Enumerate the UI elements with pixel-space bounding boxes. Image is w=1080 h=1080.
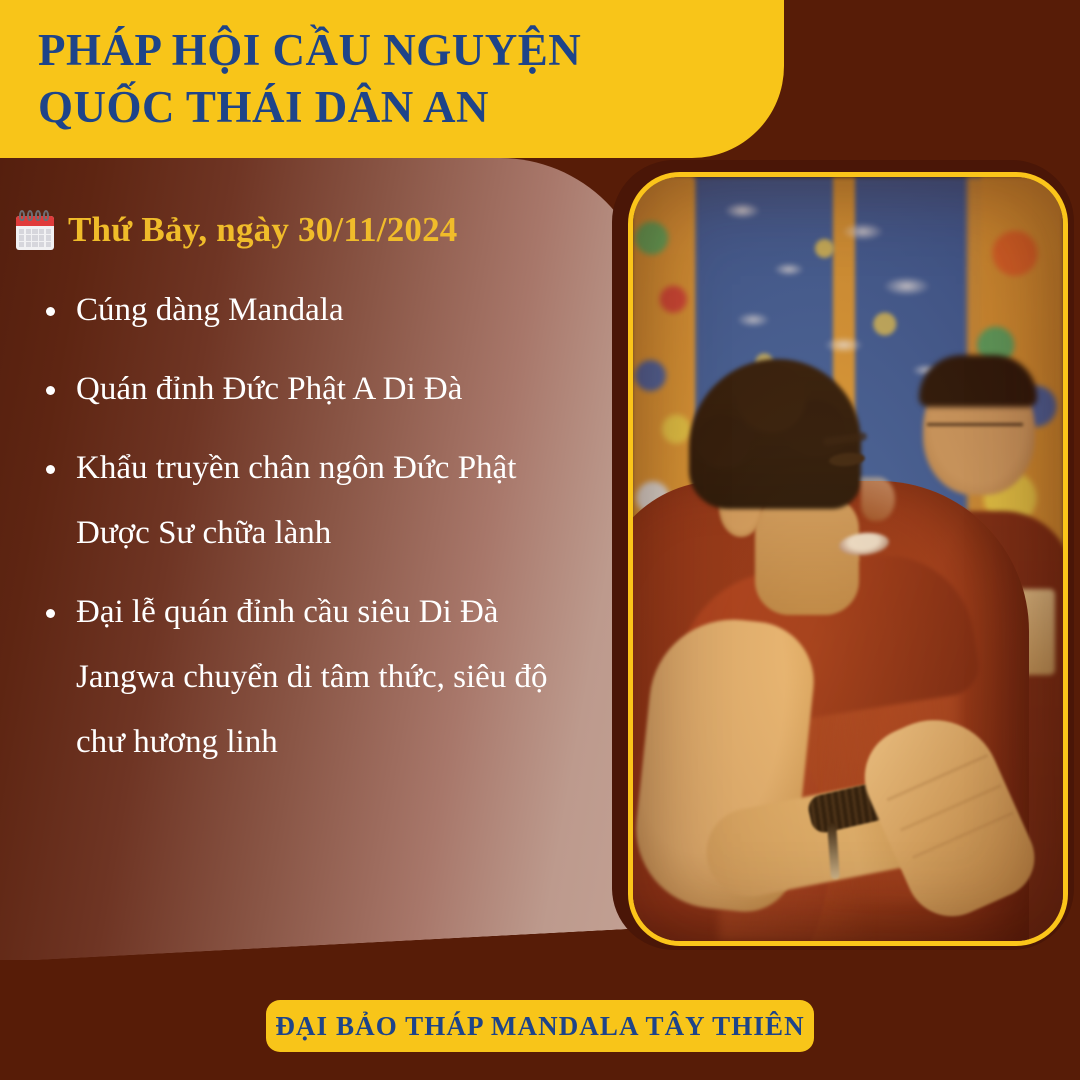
page-title: PHÁP HỘI CẦU NGUYỆN QUỐC THÁI DÂN AN <box>38 22 738 136</box>
monk-photo <box>628 172 1068 946</box>
list-item: Khẩu truyền chân ngôn Đức Phật Dược Sư c… <box>34 436 594 566</box>
background-monk-glasses <box>927 423 1023 443</box>
header-banner: PHÁP HỘI CẦU NGUYỆN QUỐC THÁI DÂN AN <box>0 0 784 158</box>
calendar-icon <box>14 208 56 252</box>
organization-name: ĐẠI BẢO THÁP MANDALA TÂY THIÊN <box>275 1011 804 1042</box>
event-poster: PHÁP HỘI CẦU NGUYỆN QUỐC THÁI DÂN AN Thứ… <box>0 0 1080 1080</box>
organization-badge: ĐẠI BẢO THÁP MANDALA TÂY THIÊN <box>266 1000 814 1052</box>
monk-nose <box>861 477 895 521</box>
background-monk-hair <box>919 355 1037 407</box>
list-item: Đại lễ quán đỉnh cầu siêu Di Đà Jangwa c… <box>34 580 594 775</box>
schedule-item-list: Cúng dàng Mandala Quán đỉnh Đức Phật A D… <box>34 278 594 789</box>
list-item: Cúng dàng Mandala <box>34 278 594 343</box>
schedule-date-label: Thứ Bảy, ngày 30/11/2024 <box>68 210 458 250</box>
schedule-date-row: Thứ Bảy, ngày 30/11/2024 <box>14 208 458 252</box>
list-item: Quán đỉnh Đức Phật A Di Đà <box>34 357 594 422</box>
panel-bottom-bevel <box>0 928 650 962</box>
